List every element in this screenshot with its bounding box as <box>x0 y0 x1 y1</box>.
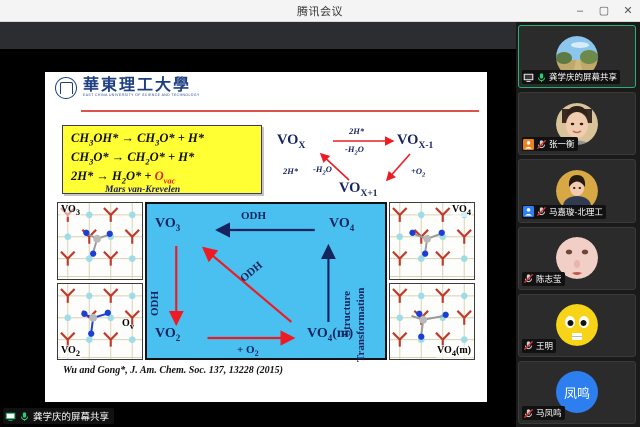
scheme-node-vo2: VO2 <box>155 326 180 343</box>
share-banner-name: 龚学庆的屏幕共享 <box>33 409 109 423</box>
host-user-icon <box>523 139 534 150</box>
transformation-scheme: VO3 VO4 VO2 VO4(m) ODH ODH ODH <box>145 202 387 360</box>
participant-tile-chenzhiying[interactable]: 陈志莹 <box>518 227 636 290</box>
participant-tile-wangming[interactable]: 王明 <box>518 294 636 357</box>
structure-label-vo4m: VO4(m) <box>436 345 472 358</box>
participant-badge: 龚学庆的屏幕共享 <box>522 70 620 84</box>
university-name-cn: 華東理工大學 <box>83 76 200 93</box>
cycle-label-top-water: -H2O <box>345 144 364 157</box>
structure-label-vo4: VO4 <box>451 204 472 217</box>
vox-redox-cycle: VOX VOX-1 VOX+1 2H* -H2O 2H* -H2O <box>277 124 473 202</box>
cycle-label-oxygen: +O2 <box>411 166 425 179</box>
slide-citation: Wu and Gong*, J. Am. Chem. Soc. 137, 132… <box>63 365 283 376</box>
mechanism-caption: Mars van-Krevelen <box>105 185 180 195</box>
structure-label-vo3: VO3 <box>60 204 81 217</box>
avatar-emoji-icon <box>556 304 598 346</box>
cycle-node-vox-plus-1: VOX+1 <box>339 180 378 199</box>
structure-label-vo2: VO2 <box>60 345 81 358</box>
participant-name: 陈志莹 <box>536 273 562 285</box>
shared-content-canvas: 華東理工大學 EAST CHINA UNIVERSITY OF SCIENCE … <box>0 49 516 427</box>
header-divider <box>81 110 479 112</box>
structure-panel-vo2: Ov VO2 <box>57 283 143 361</box>
university-name-en: EAST CHINA UNIVERSITY OF SCIENCE AND TEC… <box>83 93 200 98</box>
avatar-initials: 凤鸣 <box>564 383 590 402</box>
scheme-label-transformation: Transformation <box>355 288 367 362</box>
left-structure-column: VO3 <box>57 202 143 360</box>
scheme-node-vo3: VO3 <box>155 216 180 233</box>
stage-share-banner: 龚学庆的屏幕共享 <box>3 408 114 424</box>
presentation-slide: 華東理工大學 EAST CHINA UNIVERSITY OF SCIENCE … <box>45 72 487 402</box>
equation-line-2: CH3O* → CH2O* + H* <box>71 150 255 169</box>
slide-header: 華東理工大學 EAST CHINA UNIVERSITY OF SCIENCE … <box>45 72 487 108</box>
stage-toolbar-strip <box>0 22 516 49</box>
scheme-label-odh-left: ODH <box>149 291 161 316</box>
participant-name: 张一衡 <box>549 138 575 150</box>
microphone-muted-icon <box>523 408 534 419</box>
screen-share-icon <box>5 411 16 422</box>
participant-name: 龚学庆的屏幕共享 <box>549 71 617 83</box>
cycle-label-left-water: -H2O <box>313 164 332 177</box>
meeting-body: 華東理工大學 EAST CHINA UNIVERSITY OF SCIENCE … <box>0 22 640 427</box>
microphone-muted-icon <box>523 340 534 351</box>
oxygen-vacancy-label: Ov <box>122 318 134 331</box>
cohost-user-icon <box>523 206 534 217</box>
participant-tile-zhangyiheng[interactable]: 张一衡 <box>518 92 636 155</box>
participant-tile-gongxueqing[interactable]: 龚学庆的屏幕共享 <box>518 25 636 88</box>
structure-panel-vo3: VO3 <box>57 202 143 280</box>
participant-name: 马凤鸣 <box>536 407 562 419</box>
cycle-node-vox: VOX <box>277 132 305 151</box>
participant-name: 王明 <box>536 340 553 352</box>
participant-rail[interactable]: 龚学庆的屏幕共享 <box>516 22 640 427</box>
avatar <box>556 304 598 346</box>
equation-line-1: CH3OH* → CH3O* + H* <box>71 131 255 150</box>
participant-badge: 马凤鸣 <box>522 406 565 420</box>
structures-figure: VO3 <box>57 202 475 360</box>
scheme-node-vo4: VO4 <box>329 216 354 233</box>
microphone-icon <box>536 72 547 83</box>
microphone-muted-icon <box>536 139 547 150</box>
right-structure-column: VO4 <box>389 202 475 360</box>
scheme-label-structure: Structure <box>341 291 353 336</box>
participant-name: 马嘉璇-北理工 <box>549 206 603 218</box>
cycle-label-top-2h: 2H* <box>349 126 364 136</box>
structure-panel-vo4: VO4 <box>389 202 475 280</box>
participant-tile-mafengming[interactable]: 凤鸣 马凤鸣 <box>518 361 636 424</box>
microphone-icon <box>19 411 30 422</box>
window-title-bar: 腾讯会议 – ▢ ✕ <box>0 0 640 22</box>
cycle-node-vox-minus-1: VOX-1 <box>397 132 433 151</box>
participant-tile-majiaxuan[interactable]: 马嘉璇-北理工 <box>518 159 636 222</box>
participant-badge: 陈志莹 <box>522 272 565 286</box>
reaction-equations-box: CH3OH* → CH3O* + H* CH3O* → CH2O* + H* 2… <box>62 125 262 194</box>
participant-badge: 马嘉璇-北理工 <box>522 205 606 219</box>
screen-share-icon <box>523 72 534 83</box>
structure-panel-vo4m: VO4(m) <box>389 283 475 361</box>
university-logo-icon <box>55 77 77 99</box>
microphone-muted-icon <box>536 206 547 217</box>
participant-badge: 王明 <box>522 339 556 353</box>
scheme-label-odh-top: ODH <box>241 210 266 222</box>
cycle-label-left-2h: 2H* <box>283 166 298 176</box>
scheme-label-oxygen-bottom: + O2 <box>237 344 259 358</box>
shared-screen-stage[interactable]: 華東理工大學 EAST CHINA UNIVERSITY OF SCIENCE … <box>0 22 516 427</box>
microphone-muted-icon <box>523 273 534 284</box>
participant-badge: 张一衡 <box>522 137 578 151</box>
window-title: 腾讯会议 <box>0 3 640 19</box>
